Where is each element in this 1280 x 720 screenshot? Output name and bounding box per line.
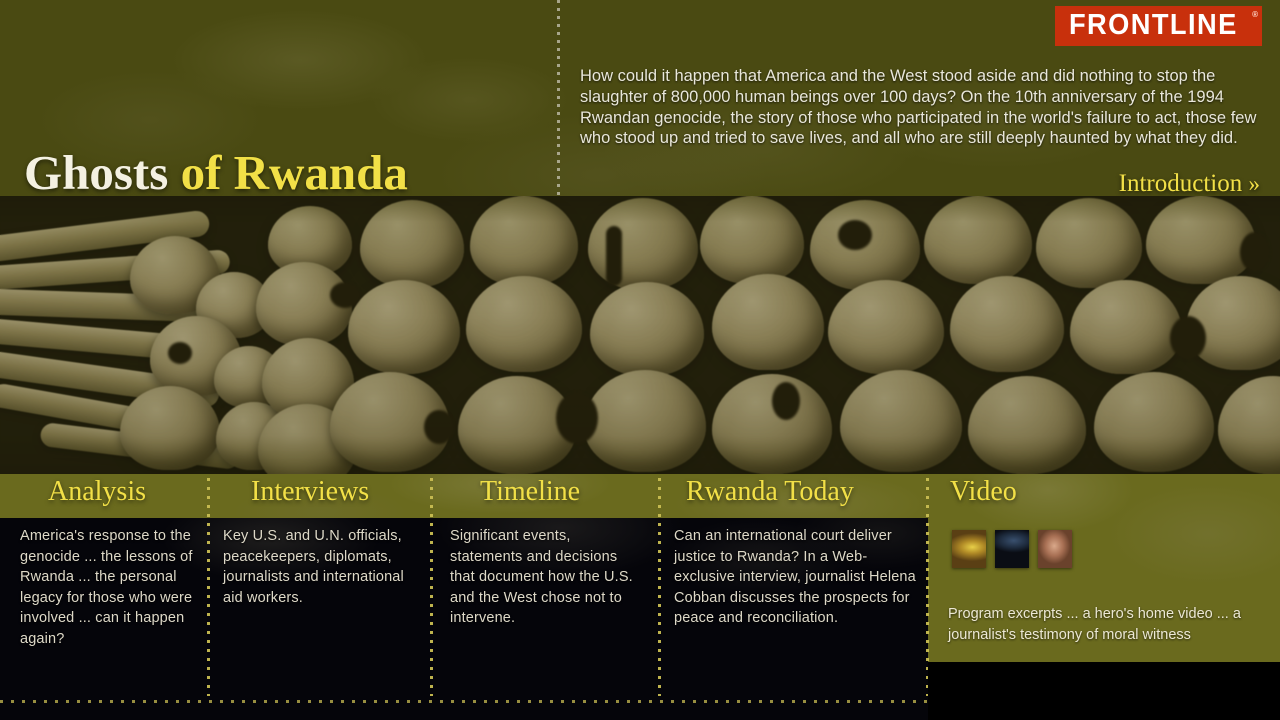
video-thumb-machete-icon[interactable] bbox=[952, 530, 986, 568]
video-thumb-helmet-icon[interactable] bbox=[995, 530, 1029, 568]
nav-column-analysis[interactable]: Analysis America's response to the genoc… bbox=[0, 474, 209, 720]
page-title-part-two: of Rwanda bbox=[181, 145, 408, 196]
nav-column-interviews[interactable]: Interviews Key U.S. and U.N. officials, … bbox=[209, 474, 432, 720]
page-root: FRONTLINE ® Ghosts of Rwanda How could i… bbox=[0, 0, 1280, 720]
video-column-footer-block bbox=[928, 662, 1280, 720]
page-title-part-one: Ghosts bbox=[24, 145, 181, 196]
nav-title-analysis[interactable]: Analysis bbox=[48, 478, 146, 506]
chevron-right-icon: » bbox=[1249, 171, 1261, 196]
nav-column-timeline[interactable]: Timeline Significant events, statements … bbox=[432, 474, 660, 720]
nav-desc-video: Program excerpts ... a hero's home video… bbox=[948, 604, 1278, 645]
registered-trademark-icon: ® bbox=[1252, 11, 1258, 19]
page-title: Ghosts of Rwanda bbox=[24, 148, 408, 196]
header-vertical-dotted-divider bbox=[557, 0, 560, 196]
header-deck-text: How could it happen that America and the… bbox=[580, 66, 1260, 149]
nav-desc-timeline: Significant events, statements and decis… bbox=[450, 526, 640, 629]
hero-photo-skulls bbox=[0, 196, 1280, 474]
nav-title-video[interactable]: Video bbox=[950, 478, 1017, 506]
video-thumbnail-strip[interactable] bbox=[952, 530, 1072, 568]
introduction-link-label: Introduction bbox=[1119, 170, 1243, 196]
frontline-logo[interactable]: FRONTLINE ® bbox=[1055, 6, 1262, 46]
introduction-link[interactable]: Introduction » bbox=[1119, 171, 1260, 196]
nav-title-interviews[interactable]: Interviews bbox=[251, 478, 369, 506]
video-thumb-portrait-icon[interactable] bbox=[1038, 530, 1072, 568]
header-band: FRONTLINE ® Ghosts of Rwanda How could i… bbox=[0, 0, 1280, 196]
frontline-logo-text: FRONTLINE bbox=[1069, 11, 1238, 40]
nav-column-rwanda-today[interactable]: Rwanda Today Can an international court … bbox=[660, 474, 928, 720]
nav-title-timeline[interactable]: Timeline bbox=[480, 478, 580, 506]
hero-photo-olive-wash bbox=[0, 196, 1280, 474]
nav-desc-analysis: America's response to the genocide ... t… bbox=[20, 526, 196, 649]
nav-title-rwanda-today[interactable]: Rwanda Today bbox=[686, 478, 854, 506]
nav-desc-interviews: Key U.S. and U.N. officials, peacekeeper… bbox=[223, 526, 421, 608]
nav-desc-rwanda-today: Can an international court deliver justi… bbox=[674, 526, 918, 629]
